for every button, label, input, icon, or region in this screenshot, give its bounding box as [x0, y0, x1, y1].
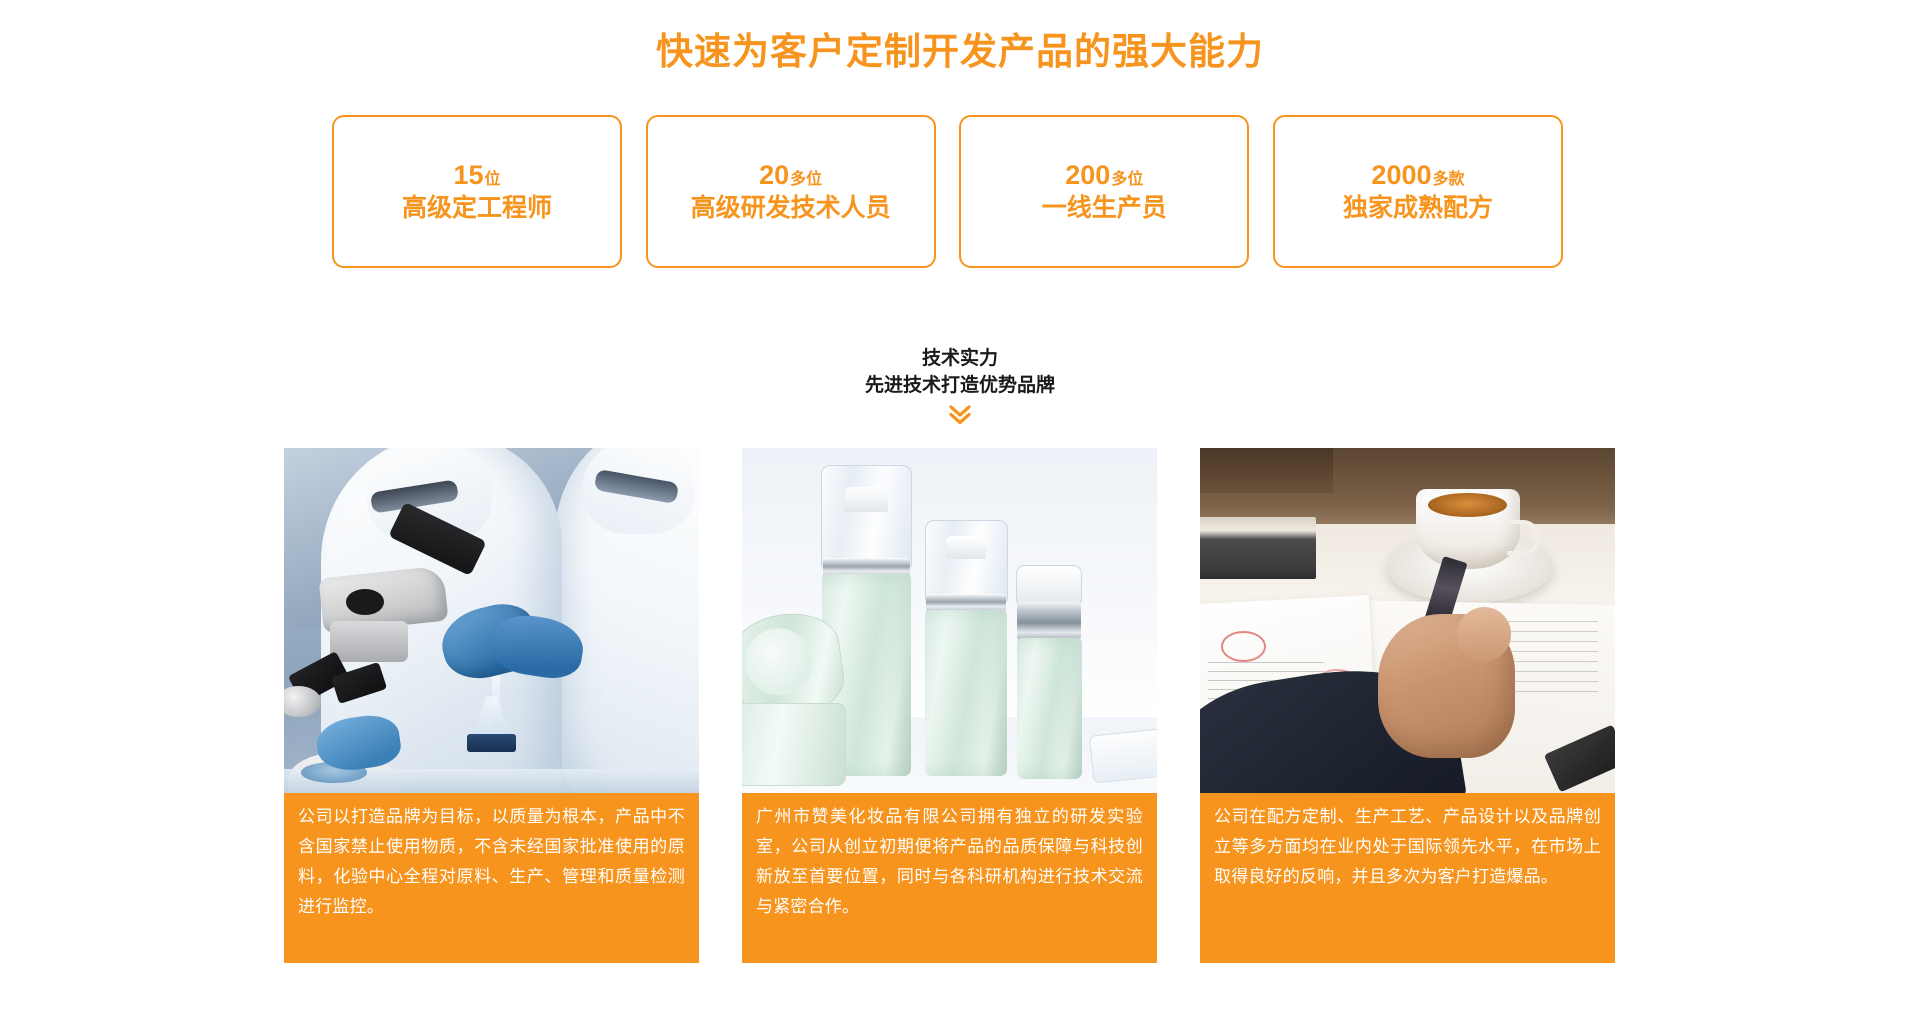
medium-pump-bottle: [925, 520, 1008, 775]
background-wall-dark: [1200, 448, 1333, 493]
card-caption: 公司以打造品牌为目标，以质量为根本，产品中不含国家禁止使用物质，不含未经国家批准…: [284, 793, 699, 963]
bottle-nozzle: [946, 536, 986, 559]
stat-label: 独家成熟配方: [1343, 192, 1493, 224]
red-stamp-1: [1221, 631, 1267, 662]
bottle-clear-cap: [821, 465, 912, 567]
bottle-silver-collar: [1017, 602, 1081, 641]
clear-tube: [1088, 726, 1157, 784]
microscope-focus-knob: [284, 686, 321, 717]
stat-unit: 多位: [790, 171, 822, 189]
bottle-white-cap: [1016, 565, 1082, 604]
desk-book: [1200, 517, 1316, 579]
stat-unit: 多位: [1111, 171, 1143, 189]
cosmetic-bottles-photo: [742, 448, 1157, 793]
stat-box-3[interactable]: 200 多位 一线生产员: [959, 115, 1249, 268]
bottle-body: [925, 610, 1006, 776]
page-root: 快速为客户定制开发产品的强大能力 15 位 高级定工程师 20 多位 高级研发技…: [0, 0, 1920, 1016]
card-caption: 公司在配方定制、生产工艺、产品设计以及品牌创立等多方面均在业内处于国际领先水平，…: [1200, 793, 1615, 963]
cup-handle: [1507, 520, 1540, 555]
lab-flask-stand: [467, 734, 517, 751]
microscope-turret: [330, 621, 409, 662]
bottle-body: [1017, 638, 1082, 779]
feature-card-1[interactable]: 公司以打造品牌为目标，以质量为根本，产品中不含国家禁止使用物质，不含未经国家批准…: [284, 448, 699, 963]
stat-number: 15: [453, 160, 483, 190]
section-title: 技术实力: [0, 345, 1920, 372]
stat-box-2[interactable]: 20 多位 高级研发技术人员: [646, 115, 936, 268]
cream-jar-base: [742, 703, 846, 786]
stat-box-1[interactable]: 15 位 高级定工程师: [332, 115, 622, 268]
stat-number: 200: [1065, 160, 1110, 190]
feature-card-2[interactable]: 广州市赞美化妆品有限公司拥有独立的研发实验室，公司从创立初期便将产品的品质保障与…: [742, 448, 1157, 963]
bottle-clear-cap: [925, 520, 1008, 602]
stat-label: 一线生产员: [1042, 192, 1167, 224]
stat-number-row: 2000 多款: [1371, 160, 1464, 190]
stat-box-4[interactable]: 2000 多款 独家成熟配方: [1273, 115, 1563, 268]
stats-row: 15 位 高级定工程师 20 多位 高级研发技术人员 200 多位 一线生产员 …: [332, 115, 1563, 268]
stat-number: 20: [759, 160, 789, 190]
stat-unit: 位: [485, 171, 501, 189]
page-title: 快速为客户定制开发产品的强大能力: [0, 28, 1920, 76]
feature-card-3[interactable]: 公司在配方定制、生产工艺、产品设计以及品牌创立等多方面均在业内处于国际领先水平，…: [1200, 448, 1615, 963]
stat-label: 高级定工程师: [402, 192, 552, 224]
stat-unit: 多款: [1433, 171, 1465, 189]
stat-number-row: 200 多位: [1065, 160, 1143, 190]
card-caption: 广州市赞美化妆品有限公司拥有独立的研发实验室，公司从创立初期便将产品的品质保障与…: [742, 793, 1157, 963]
section-heading: 技术实力 先进技术打造优势品牌: [0, 345, 1920, 426]
bottle-nozzle: [845, 487, 889, 512]
stat-number-row: 20 多位: [759, 160, 822, 190]
double-chevron-down-icon: [0, 404, 1920, 426]
laboratory-photo: [284, 448, 699, 793]
small-pump-bottle: [1016, 565, 1082, 779]
microscope-lens: [346, 589, 383, 615]
section-subtitle: 先进技术打造优势品牌: [0, 372, 1920, 399]
tea-liquid: [1428, 493, 1507, 517]
stat-number: 2000: [1371, 160, 1431, 190]
stat-label: 高级研发技术人员: [691, 192, 891, 224]
desk-signing-photo: [1200, 448, 1615, 793]
feature-cards-row: 公司以打造品牌为目标，以质量为根本，产品中不含国家禁止使用物质，不含未经国家批准…: [284, 448, 1615, 963]
stat-number-row: 15 位: [453, 160, 500, 190]
